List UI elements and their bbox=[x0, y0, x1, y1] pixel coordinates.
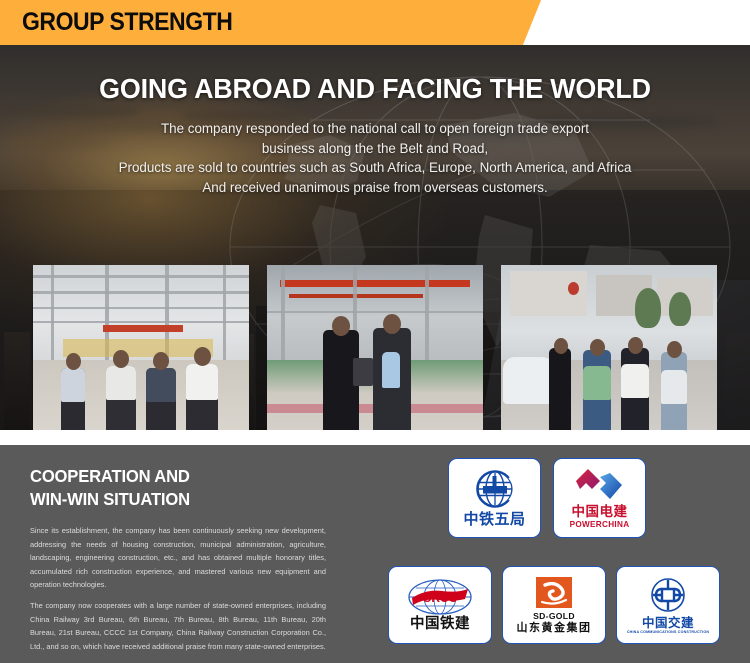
hero-subtext-line: The company responded to the national ca… bbox=[0, 119, 750, 139]
partner-logo-label-en: CHINA COMMUNICATIONS CONSTRUCTION bbox=[627, 630, 709, 634]
cooperation-heading-line2: WIN-WIN SITUATION bbox=[30, 488, 344, 511]
hero-subtext-line: And received unanimous praise from overs… bbox=[0, 178, 750, 198]
person-silhouette bbox=[549, 348, 571, 430]
globe-crcc-icon: CRCC bbox=[406, 578, 474, 616]
tablet-device bbox=[353, 358, 373, 386]
hero-text-block: GOING ABROAD AND FACING THE WORLD The co… bbox=[0, 73, 750, 197]
partner-logo-cccc[interactable]: 中国交建 CHINA COMMUNICATIONS CONSTRUCTION bbox=[616, 566, 720, 644]
hero-subtext: The company responded to the national ca… bbox=[0, 119, 750, 197]
partner-logo-crcc[interactable]: CRCC 中国铁建 bbox=[388, 566, 492, 644]
photo-gallery bbox=[0, 265, 750, 430]
person-head bbox=[554, 338, 568, 354]
person-shirt bbox=[186, 364, 218, 400]
hero-subtext-line: business along the the Belt and Road, bbox=[0, 139, 750, 159]
partner-logo-sd-gold[interactable]: SD-GOLD 山东黄金集团 bbox=[502, 566, 606, 644]
partner-logos-bottom-row: CRCC 中国铁建 SD-GOLD 山东黄金集团 中国交建 CHINA COMM… bbox=[388, 566, 720, 644]
partner-logo-label-cn: 中国铁建 bbox=[410, 617, 470, 632]
partner-logo-label-en: SD-GOLD bbox=[533, 611, 575, 621]
cooperation-text-column: COOPERATION AND WIN-WIN SITUATION Since … bbox=[30, 465, 360, 653]
gallery-photo-factory[interactable] bbox=[33, 265, 249, 430]
globe-crec-icon bbox=[470, 468, 520, 510]
person-head bbox=[332, 316, 350, 336]
partner-logo-china-railway-no5[interactable]: 中铁五局 bbox=[448, 458, 541, 538]
partner-logo-label-cn: 中国电建 bbox=[572, 505, 628, 519]
hero-section: GOING ABROAD AND FACING THE WORLD The co… bbox=[0, 45, 750, 430]
person-head bbox=[153, 352, 169, 370]
hero-subtext-line: Products are sold to countries such as S… bbox=[0, 158, 750, 178]
person-head bbox=[383, 314, 401, 334]
person-shirt bbox=[106, 366, 136, 400]
person-shirt bbox=[661, 370, 687, 404]
person-head bbox=[667, 341, 682, 358]
cooperation-heading-line1: COOPERATION AND bbox=[30, 465, 344, 488]
partner-logos-top-row: 中铁五局 中国电建 POWERCHINA bbox=[448, 458, 646, 538]
photo-background bbox=[501, 265, 717, 360]
person-shirt bbox=[61, 368, 85, 402]
interchange-icon bbox=[648, 576, 688, 614]
gallery-photo-street[interactable] bbox=[501, 265, 717, 430]
person-shirt bbox=[146, 368, 176, 402]
cooperation-paragraph-1: Since its establishment, the company has… bbox=[30, 524, 326, 592]
person-head bbox=[590, 339, 605, 356]
gold-swirl-icon bbox=[535, 576, 573, 609]
partner-logo-label-cn: 山东黄金集团 bbox=[517, 622, 592, 634]
cooperation-heading: COOPERATION AND WIN-WIN SITUATION bbox=[30, 465, 344, 511]
person-shirt bbox=[621, 364, 649, 398]
gallery-photo-workshop[interactable] bbox=[267, 265, 483, 430]
diamond-pair-icon bbox=[574, 467, 626, 503]
person-shirt bbox=[583, 366, 611, 400]
partner-logo-label-en: POWERCHINA bbox=[570, 520, 630, 529]
cooperation-paragraph-2: The company now cooperates with a large … bbox=[30, 599, 326, 653]
person-head bbox=[113, 350, 129, 368]
person-head bbox=[66, 353, 81, 370]
photo-background bbox=[33, 265, 249, 360]
person-head bbox=[194, 347, 211, 366]
page-title: GROUP STRENGTH bbox=[22, 6, 232, 38]
partner-logo-label-cn: 中国交建 bbox=[642, 616, 694, 629]
svg-text:CRCC: CRCC bbox=[423, 591, 458, 605]
partner-logo-powerchina[interactable]: 中国电建 POWERCHINA bbox=[553, 458, 646, 538]
person-shirt bbox=[382, 352, 400, 388]
page-header-banner: GROUP STRENGTH bbox=[0, 0, 750, 45]
partner-logo-label-cn: 中铁五局 bbox=[463, 512, 525, 528]
hero-headline: GOING ABROAD AND FACING THE WORLD bbox=[15, 73, 735, 105]
person-head bbox=[628, 337, 643, 354]
header-diagonal-stripes bbox=[410, 0, 540, 45]
